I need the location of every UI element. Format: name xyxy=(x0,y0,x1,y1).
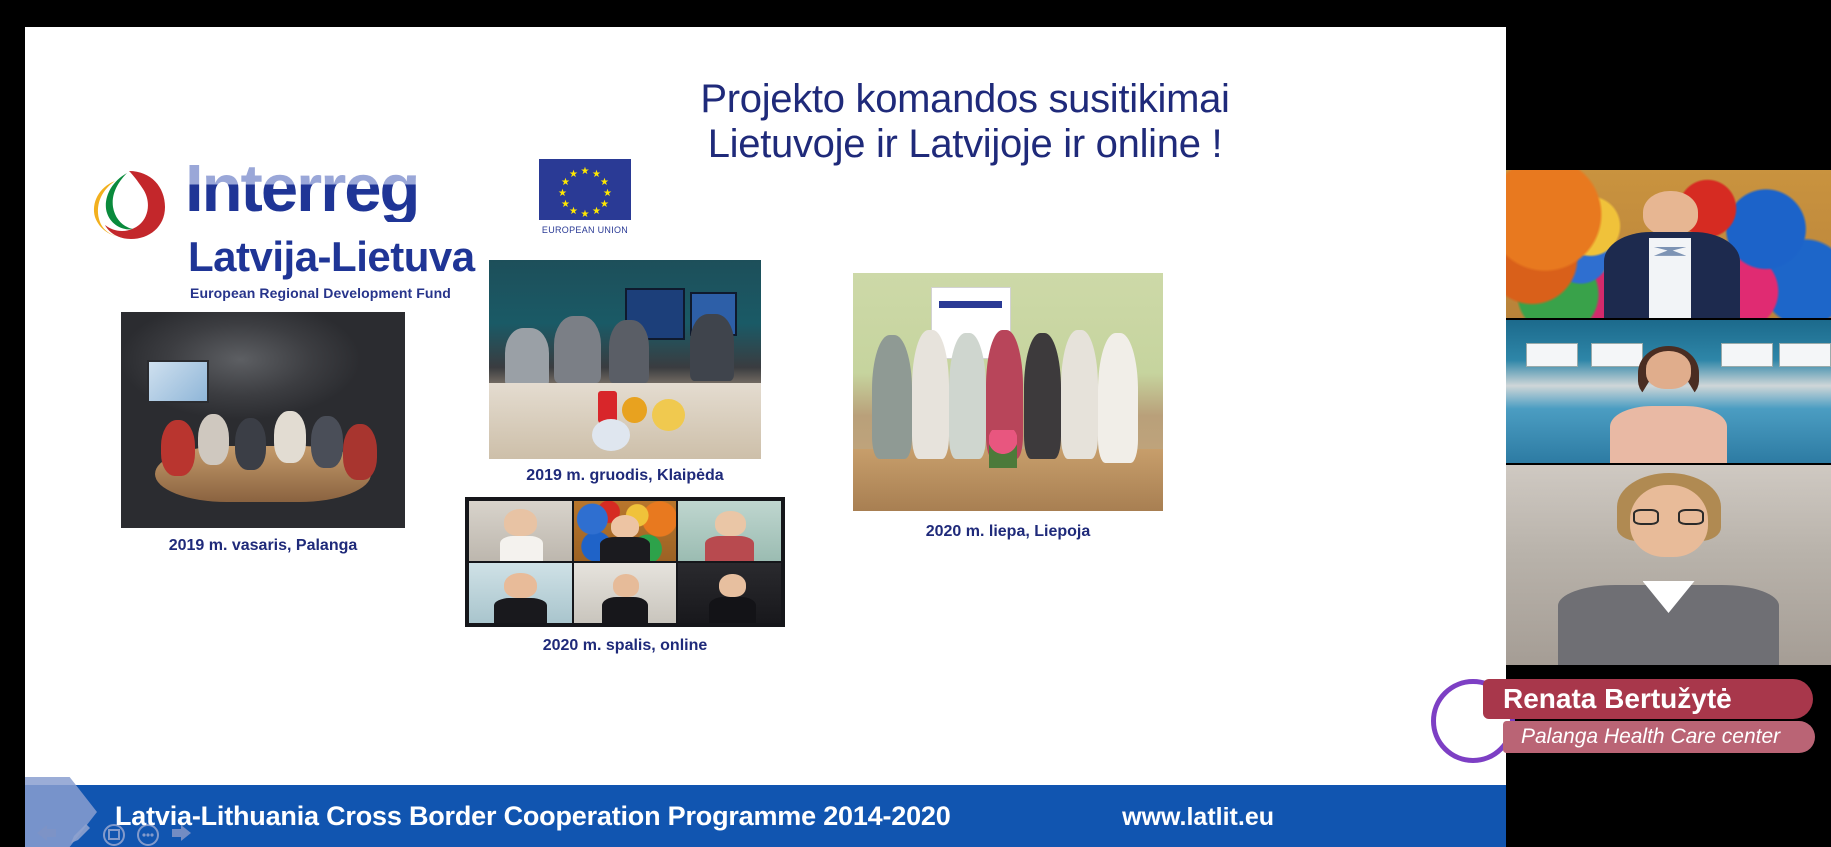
video-tile-3[interactable] xyxy=(1506,465,1831,665)
video-tile-3-glasses-right xyxy=(1678,509,1704,525)
banner-url[interactable]: www.latlit.eu xyxy=(1122,803,1274,832)
photo-liepaja-2020 xyxy=(853,273,1163,511)
page-title-line-2: Lietuvoje ir Latvijoje ir online ! xyxy=(645,122,1285,167)
caption-liepaja-2020: 2020 m. liepa, Liepoja xyxy=(853,523,1163,541)
speaker-organisation: Palanga Health Care center xyxy=(1503,721,1815,753)
caption-palanga-2019: 2019 m. vasaris, Palanga xyxy=(121,537,405,555)
page-title-line-1: Projekto komandos susitikimai xyxy=(645,77,1285,122)
video-tile-2-body xyxy=(1610,406,1727,463)
photo-online-2020 xyxy=(465,497,785,627)
eu-emblem: ★ ★ ★ ★ ★ ★ ★ ★ ★ ★ ★ ★ EUROPEAN UNION xyxy=(539,159,631,235)
video-tile-2[interactable] xyxy=(1506,320,1831,463)
speaker-lower-third: Renata Bertužytė Palanga Health Care cen… xyxy=(1431,677,1831,763)
photo-palanga-2019 xyxy=(121,312,405,528)
page-title: Projekto komandos susitikimai Lietuvoje … xyxy=(645,77,1285,167)
back-arrow-icon[interactable] xyxy=(31,819,61,847)
video-tile-3-glasses-left xyxy=(1633,509,1659,525)
video-tile-1[interactable] xyxy=(1506,170,1831,318)
screen-root: Projekto komandos susitikimai Lietuvoje … xyxy=(0,0,1831,847)
caption-online-2020: 2020 m. spalis, online xyxy=(465,637,785,655)
presentation-slide: Projekto komandos susitikimai Lietuvoje … xyxy=(25,27,1506,847)
eu-flag-icon: ★ ★ ★ ★ ★ ★ ★ ★ ★ ★ ★ ★ xyxy=(539,159,631,220)
banner-title: Latvia-Lithuania Cross Border Cooperatio… xyxy=(115,801,951,832)
video-tile-2-head xyxy=(1646,351,1692,388)
eu-caption: EUROPEAN UNION xyxy=(539,225,631,235)
programme-banner: Latvia-Lithuania Cross Border Cooperatio… xyxy=(25,785,1506,847)
interreg-fund-label: European Regional Development Fund xyxy=(190,285,451,301)
interreg-programme-name: Latvija-Lietuva xyxy=(188,233,475,281)
pen-icon[interactable] xyxy=(65,819,95,847)
speaker-name: Renata Bertužytė xyxy=(1483,679,1813,719)
video-tile-1-head xyxy=(1643,191,1698,235)
interreg-wordmark: Interreg xyxy=(185,155,418,222)
interreg-swoosh-icon xyxy=(89,167,169,243)
photo-klaipeda-2019 xyxy=(489,260,761,459)
caption-klaipeda-2019: 2019 m. gruodis, Klaipėda xyxy=(489,467,761,485)
